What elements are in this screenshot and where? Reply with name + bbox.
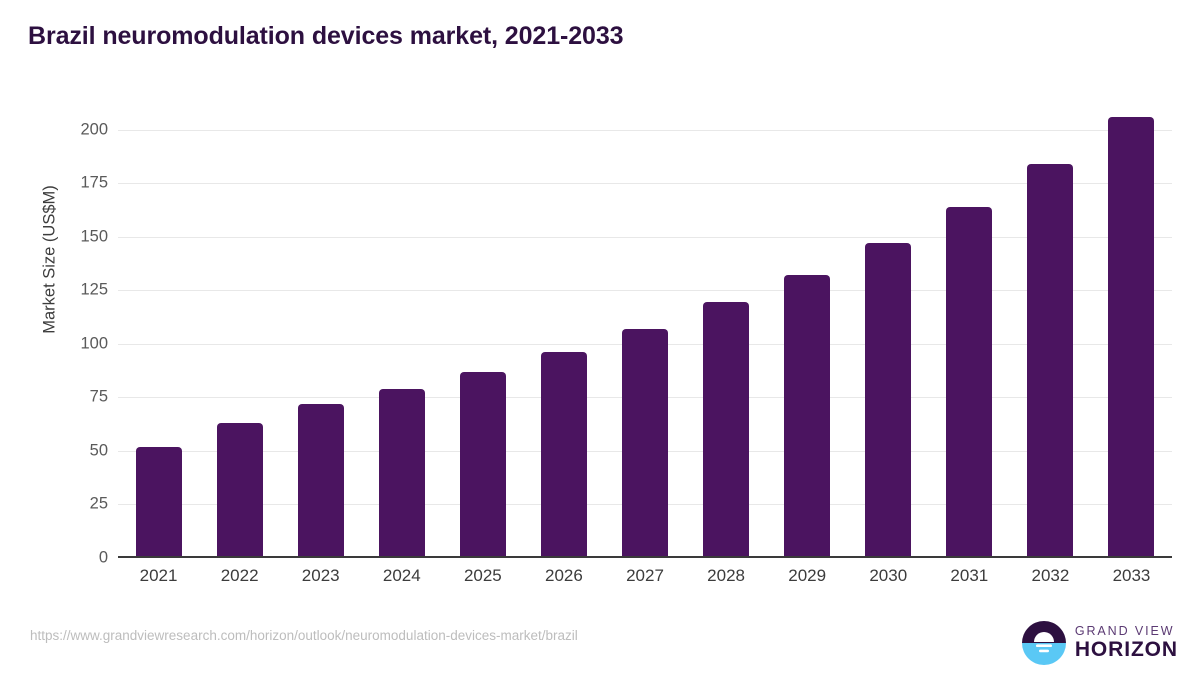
bar[interactable] <box>541 352 587 558</box>
source-url[interactable]: https://www.grandviewresearch.com/horizo… <box>30 628 578 643</box>
x-axis-tick-label: 2033 <box>1091 566 1172 586</box>
y-axis-tick-label: 125 <box>0 281 108 300</box>
sunrise-circle-icon <box>1022 621 1066 665</box>
y-axis-tick-label: 50 <box>0 441 108 460</box>
bar-group: 2027 <box>604 104 685 558</box>
plot-area: 0255075100125150175200 20212022202320242… <box>118 104 1172 558</box>
x-axis-tick-label: 2021 <box>118 566 199 586</box>
bar-group: 2023 <box>280 104 361 558</box>
bar-group: 2030 <box>848 104 929 558</box>
bar[interactable] <box>865 243 911 558</box>
bar[interactable] <box>1027 164 1073 558</box>
bar-group: 2031 <box>929 104 1010 558</box>
logo-text-horizon: HORIZON <box>1075 639 1178 661</box>
x-axis-line <box>118 556 1172 558</box>
x-axis-tick-label: 2026 <box>523 566 604 586</box>
y-axis-tick-label: 150 <box>0 227 108 246</box>
y-axis-tick-label: 175 <box>0 174 108 193</box>
bar-group: 2021 <box>118 104 199 558</box>
bar-group: 2026 <box>523 104 604 558</box>
x-axis-tick-label: 2022 <box>199 566 280 586</box>
chart-page: Brazil neuromodulation devices market, 2… <box>0 0 1200 675</box>
x-axis-tick-label: 2024 <box>361 566 442 586</box>
x-axis-tick-label: 2028 <box>686 566 767 586</box>
bar-group: 2024 <box>361 104 442 558</box>
y-axis-tick-label: 0 <box>0 549 108 568</box>
bar[interactable] <box>784 275 830 558</box>
x-axis-tick-label: 2027 <box>604 566 685 586</box>
bar-group: 2028 <box>686 104 767 558</box>
y-axis-tick-label: 200 <box>0 120 108 139</box>
logo-text-grand-view: GRAND VIEW <box>1075 625 1178 638</box>
bar[interactable] <box>460 372 506 558</box>
bar[interactable] <box>379 389 425 558</box>
x-axis-tick-label: 2031 <box>929 566 1010 586</box>
bar[interactable] <box>946 207 992 558</box>
bars-container: 2021202220232024202520262027202820292030… <box>118 104 1172 558</box>
bar[interactable] <box>136 447 182 558</box>
x-axis-tick-label: 2023 <box>280 566 361 586</box>
x-axis-tick-label: 2025 <box>442 566 523 586</box>
x-axis-tick-label: 2032 <box>1010 566 1091 586</box>
bar[interactable] <box>703 302 749 558</box>
bar[interactable] <box>217 423 263 558</box>
x-axis-tick-label: 2030 <box>848 566 929 586</box>
bar-group: 2032 <box>1010 104 1091 558</box>
bar-group: 2025 <box>442 104 523 558</box>
bar[interactable] <box>298 404 344 558</box>
y-axis-tick-label: 25 <box>0 495 108 514</box>
bar[interactable] <box>1108 117 1154 558</box>
grand-view-horizon-logo[interactable]: GRAND VIEW HORIZON <box>1022 620 1178 666</box>
logo-wordmark: GRAND VIEW HORIZON <box>1075 625 1178 661</box>
y-axis-tick-label: 75 <box>0 388 108 407</box>
page-title: Brazil neuromodulation devices market, 2… <box>28 22 623 51</box>
y-axis-tick-label: 100 <box>0 334 108 353</box>
bar[interactable] <box>622 329 668 558</box>
bar-group: 2033 <box>1091 104 1172 558</box>
x-axis-tick-label: 2029 <box>767 566 848 586</box>
bar-group: 2029 <box>767 104 848 558</box>
bar-group: 2022 <box>199 104 280 558</box>
